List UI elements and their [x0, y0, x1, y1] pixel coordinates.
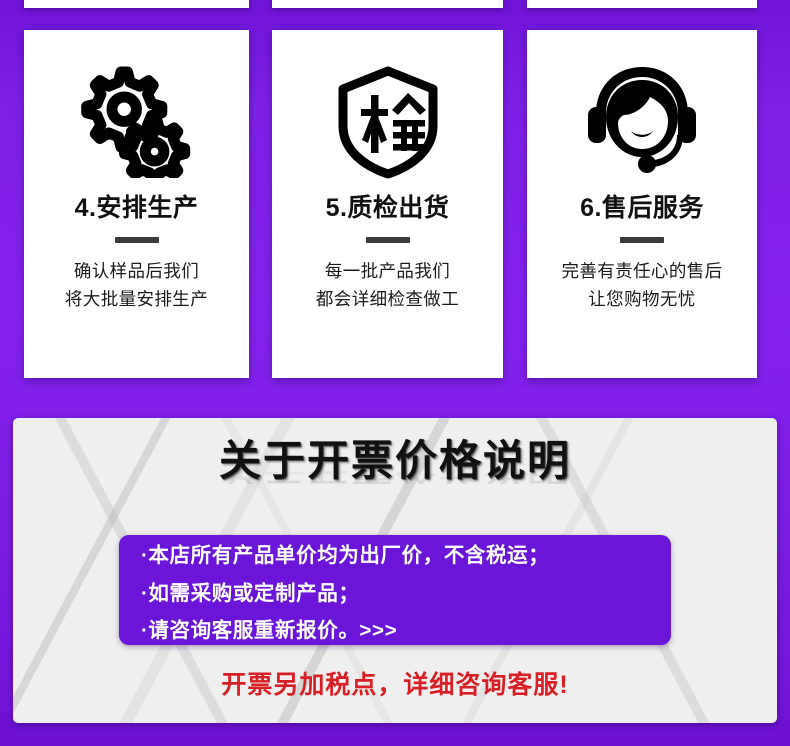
price-note-2: ·如需采购或定制产品； — [119, 584, 671, 605]
page-root: 4.安排生产 确认样品后我们 将大批量安排生产 — [0, 0, 790, 746]
previous-row-card-bottoms — [0, 0, 790, 14]
title-divider — [620, 237, 664, 243]
step-card-title: 4.安排生产 — [75, 196, 199, 221]
step-card-4[interactable]: 4.安排生产 确认样品后我们 将大批量安排生产 — [24, 30, 249, 378]
desc-line-2: 将大批量安排生产 — [65, 285, 208, 313]
desc-line-1: 每一批产品我们 — [316, 257, 459, 285]
headset-support-icon — [527, 52, 757, 192]
step-card-description: 每一批产品我们 都会详细检查做工 — [316, 257, 459, 314]
step-card-description: 完善有责任心的售后 让您购物无忧 — [561, 257, 722, 314]
price-note-1: ·本店所有产品单价均为出厂价，不含税运； — [119, 546, 671, 567]
step-card-6[interactable]: 6.售后服务 完善有责任心的售后 让您购物无忧 — [527, 30, 757, 378]
step-card-title: 6.售后服务 — [580, 196, 704, 221]
gears-icon — [24, 52, 249, 192]
title-divider — [366, 237, 410, 243]
banner-title: 关于开票价格说明 — [13, 440, 777, 482]
price-note-3[interactable]: ·请咨询客服重新报价。>>> — [119, 621, 671, 642]
card-stub-2 — [272, 0, 503, 8]
step-card-title: 5.质检出货 — [326, 196, 450, 221]
step-card-5[interactable]: 5.质检出货 每一批产品我们 都会详细检查做工 — [272, 30, 503, 378]
banner-content: 关于开票价格说明 关于开票价格说明 ·本店所有产品单价均为出厂价，不含税运； ·… — [13, 418, 777, 723]
price-notes-box: ·本店所有产品单价均为出厂价，不含税运； ·如需采购或定制产品； ·请咨询客服重… — [119, 535, 671, 645]
desc-line-1: 完善有责任心的售后 — [561, 257, 722, 285]
shield-inspection-icon — [272, 52, 503, 192]
step-card-description: 确认样品后我们 将大批量安排生产 — [65, 257, 208, 314]
desc-line-2: 都会详细检查做工 — [316, 285, 459, 313]
card-stub-1 — [24, 0, 249, 8]
banner-footer-warning: 开票另加税点，详细咨询客服! — [13, 665, 777, 701]
process-step-cards: 4.安排生产 确认样品后我们 将大批量安排生产 — [0, 30, 790, 378]
title-divider — [115, 237, 159, 243]
card-stub-3 — [527, 0, 757, 8]
desc-line-2: 让您购物无忧 — [561, 285, 722, 313]
desc-line-1: 确认样品后我们 — [65, 257, 208, 285]
invoice-price-banner: 关于开票价格说明 关于开票价格说明 ·本店所有产品单价均为出厂价，不含税运； ·… — [13, 418, 777, 723]
